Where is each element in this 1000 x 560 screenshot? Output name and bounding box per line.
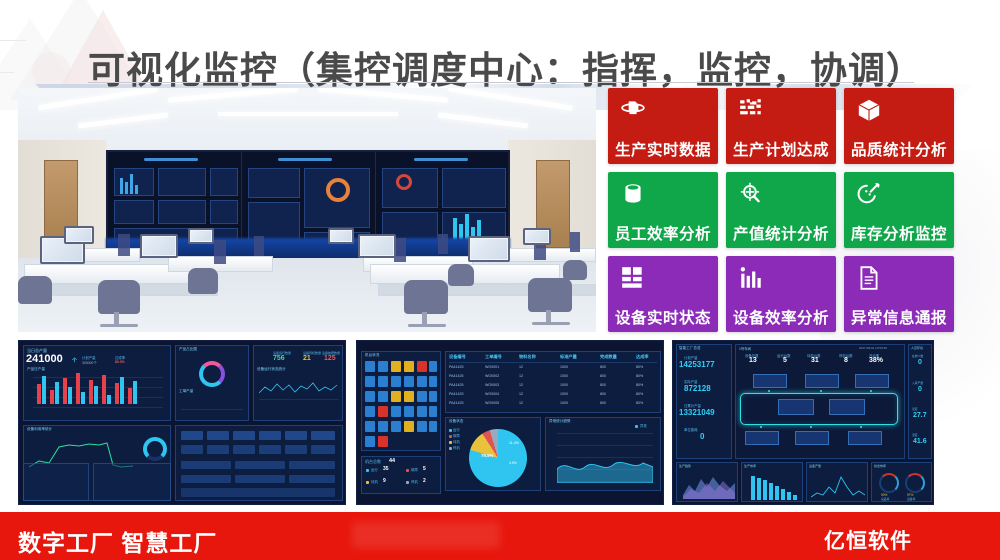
energy-value: 0 — [700, 432, 704, 441]
equipment-idle-label: 设备待机数量 — [303, 351, 321, 355]
table-header-standard: 标准产量 — [560, 354, 577, 360]
monitor-8 — [328, 228, 354, 244]
panel-product-ratio-title: 产品占比图 — [179, 347, 197, 352]
top-stat-value-2: 31 — [811, 357, 819, 364]
footer-watermark — [352, 522, 500, 548]
tile-exception-notification[interactable]: 异常信息通报 — [844, 256, 954, 332]
device-status-pie — [469, 429, 527, 487]
plant-panel-title: 智能工厂总览 — [679, 346, 701, 351]
shovel-icon — [854, 179, 884, 209]
table-header-device: 设备编号 — [449, 354, 466, 360]
tile-label: 生产实时数据 — [608, 143, 718, 159]
footer-bar: 数字工厂 智慧工厂 亿恒软件 — [0, 512, 1000, 560]
machine-idle-label: 待机 — [371, 479, 378, 484]
plant-timestamp: 2017-08-01 13:53:39 — [859, 346, 887, 350]
dashboard-work-order[interactable]: 机台状况 机台总数 44 运行 35 故障 5 待机 9 停机 2 设备编号 工… — [356, 340, 664, 505]
tile-equipment-efficiency-analysis[interactable]: 设备效率分析 — [726, 256, 836, 332]
tile-inventory-analysis-monitoring[interactable]: 库存分析监控 — [844, 172, 954, 248]
page-title: 可视化监控（集控调度中心：指挥，监控，协调） — [88, 40, 924, 94]
machine-total-value: 44 — [389, 458, 395, 464]
chair-4-legs — [408, 324, 446, 327]
control-room-photo — [18, 88, 596, 332]
database-cylinder-icon — [618, 179, 648, 209]
bottom-panel-title-1: 生产效率 — [744, 464, 756, 468]
table-header-rate: 达成率 — [636, 354, 649, 360]
grid-tiles-icon — [618, 263, 648, 293]
tile-label: 异常信息通报 — [844, 311, 954, 327]
machine-stop-value: 2 — [423, 478, 426, 484]
cube-icon — [854, 95, 884, 125]
machine-run-value: 35 — [383, 466, 389, 472]
tile-label: 设备实时状态 — [608, 311, 718, 327]
tile-output-value-statistics[interactable]: 产值统计分析 — [726, 172, 836, 248]
panel-exception-trend-title: 异常统计趋势 — [549, 419, 571, 424]
gauge-label-0: 良品率 — [881, 497, 889, 501]
dashboard-plant-overview[interactable]: 智能工厂总览 计划产量 14253177 实际产量 872128 日累计产量 1… — [672, 340, 934, 505]
panel-utilization-title: 设备利用率统计 — [27, 427, 52, 432]
divider-5 — [438, 234, 448, 254]
machine-stop-label: 停机 — [411, 479, 418, 484]
divider-7 — [570, 232, 580, 252]
chair-3 — [18, 276, 52, 304]
right-stat-value-3: 41.6 — [913, 438, 927, 445]
bottom-panel-title-2: 设备产量 — [809, 464, 821, 468]
kpi-rate-value: 80.3% — [115, 360, 125, 364]
chair-5-legs — [532, 322, 570, 325]
right-stat-label-3: 湿度 — [912, 433, 918, 437]
chair-7 — [563, 260, 587, 280]
monitor-5 — [358, 234, 396, 258]
machine-total-label: 机台总数 — [365, 459, 381, 465]
table-header-complete: 完成数量 — [600, 354, 617, 360]
tile-equipment-realtime-status[interactable]: 设备实时状态 — [608, 256, 718, 332]
right-stat-label-1: 入库产量 — [912, 381, 923, 385]
panel-status-stat-title: 设备运行状态统计 — [257, 367, 286, 372]
panel-machine-status-title: 机台状况 — [365, 353, 379, 358]
bottom-panel-title-3: 综合效率 — [874, 464, 886, 468]
monitor-2 — [140, 234, 178, 258]
right-stat-label-0: 在岗人数 — [912, 354, 923, 358]
target-magnifier-icon — [736, 179, 766, 209]
chair-6 — [448, 264, 474, 286]
tile-quality-statistics-analysis[interactable]: 品质统计分析 — [844, 88, 954, 164]
right-stat-label-2: 温度 — [912, 407, 918, 411]
tile-employee-efficiency-analysis[interactable]: 员工效率分析 — [608, 172, 718, 248]
top-stat-value-3: 8 — [844, 357, 848, 364]
equipment-run-count: 756 — [273, 355, 285, 362]
top-stat-value-4: 38% — [869, 357, 883, 364]
monitor-7 — [523, 228, 551, 245]
kpi-value: 241000 — [26, 353, 63, 365]
monitor-4 — [188, 228, 214, 244]
right-stat-value-0: 0 — [918, 359, 922, 366]
tile-label: 产值统计分析 — [726, 227, 836, 243]
right-stat-value-2: 27.7 — [913, 412, 927, 419]
machine-idle-value: 9 — [383, 478, 386, 484]
divider-3 — [254, 236, 264, 256]
exception-legend-label: 异常 — [640, 423, 647, 428]
ceiling-light-7 — [218, 112, 398, 116]
panel-daily-output-title: 产品日产量 — [27, 367, 45, 372]
monitor-3 — [64, 226, 94, 244]
machine-run-label: 运行 — [371, 467, 378, 472]
footer-brand: 亿恒软件 — [824, 525, 912, 555]
bar-chart-icon — [736, 263, 766, 293]
tile-label: 员工效率分析 — [608, 227, 718, 243]
energy-label: 单位能耗 — [684, 427, 698, 432]
equipment-fault-label: 设备故障数量 — [322, 351, 340, 355]
tile-realtime-production-data[interactable]: 生产实时数据 — [608, 88, 718, 164]
right-stat-value-1: 0 — [918, 386, 922, 393]
gauge-label-1: 设备率 — [907, 497, 915, 501]
actual-output-value: 872128 — [684, 384, 711, 393]
gantt-blocks-icon — [736, 95, 766, 125]
kpi-sub-value: 300000个 — [82, 360, 97, 365]
title-underline — [88, 82, 914, 83]
tile-production-plan-achievement[interactable]: 生产计划达成 — [726, 88, 836, 164]
function-tile-grid: 生产实时数据 生产计划达成 品质统计分析 — [608, 88, 954, 332]
chair-1-legs — [100, 324, 138, 327]
machine-fault-value: 5 — [423, 466, 426, 472]
tile-label: 库存分析监控 — [844, 227, 954, 243]
tile-label: 生产计划达成 — [726, 143, 836, 159]
monitor-6 — [468, 236, 510, 262]
document-icon — [854, 263, 884, 293]
divider-2 — [214, 240, 226, 264]
cumulative-output-value: 13321049 — [679, 408, 715, 417]
equipment-run-label: 设备运行数量 — [273, 351, 291, 355]
bottom-panel-title-0: 生产趋势 — [679, 464, 691, 468]
tile-label: 品质统计分析 — [844, 143, 954, 159]
chair-1 — [98, 280, 140, 314]
panel-device-status-title: 设备状态 — [449, 419, 463, 424]
footer-tagline: 数字工厂 智慧工厂 — [18, 524, 217, 558]
divider-1 — [118, 234, 130, 256]
panel-workorder-output-title: 工单产量 — [179, 389, 193, 394]
table-header-material: 物料名称 — [519, 354, 536, 360]
plan-output-value: 14253177 — [679, 360, 715, 369]
chair-4 — [404, 280, 448, 314]
chair-5 — [528, 278, 572, 312]
tile-label: 设备效率分析 — [726, 311, 836, 327]
chair-2 — [188, 268, 218, 294]
top-stat-value-1: 5 — [783, 357, 787, 364]
kpi-unit: 个 — [72, 357, 77, 364]
header: 可视化监控（集控调度中心：指挥，监控，协调） — [0, 18, 1000, 80]
table-header-workorder: 工单编号 — [485, 354, 502, 360]
data-disc-icon — [618, 95, 648, 125]
dashboard-production-realtime[interactable]: 当日总产量 241000 个 计划产量 300000个 达成率 80.3% 产品… — [18, 340, 346, 505]
machine-fault-label: 故障 — [411, 467, 418, 472]
equipment-idle-count: 21 — [303, 355, 311, 362]
equipment-fault-count: 125 — [324, 355, 336, 362]
highlight-box — [740, 393, 898, 425]
top-stat-value-0: 13 — [749, 357, 757, 364]
